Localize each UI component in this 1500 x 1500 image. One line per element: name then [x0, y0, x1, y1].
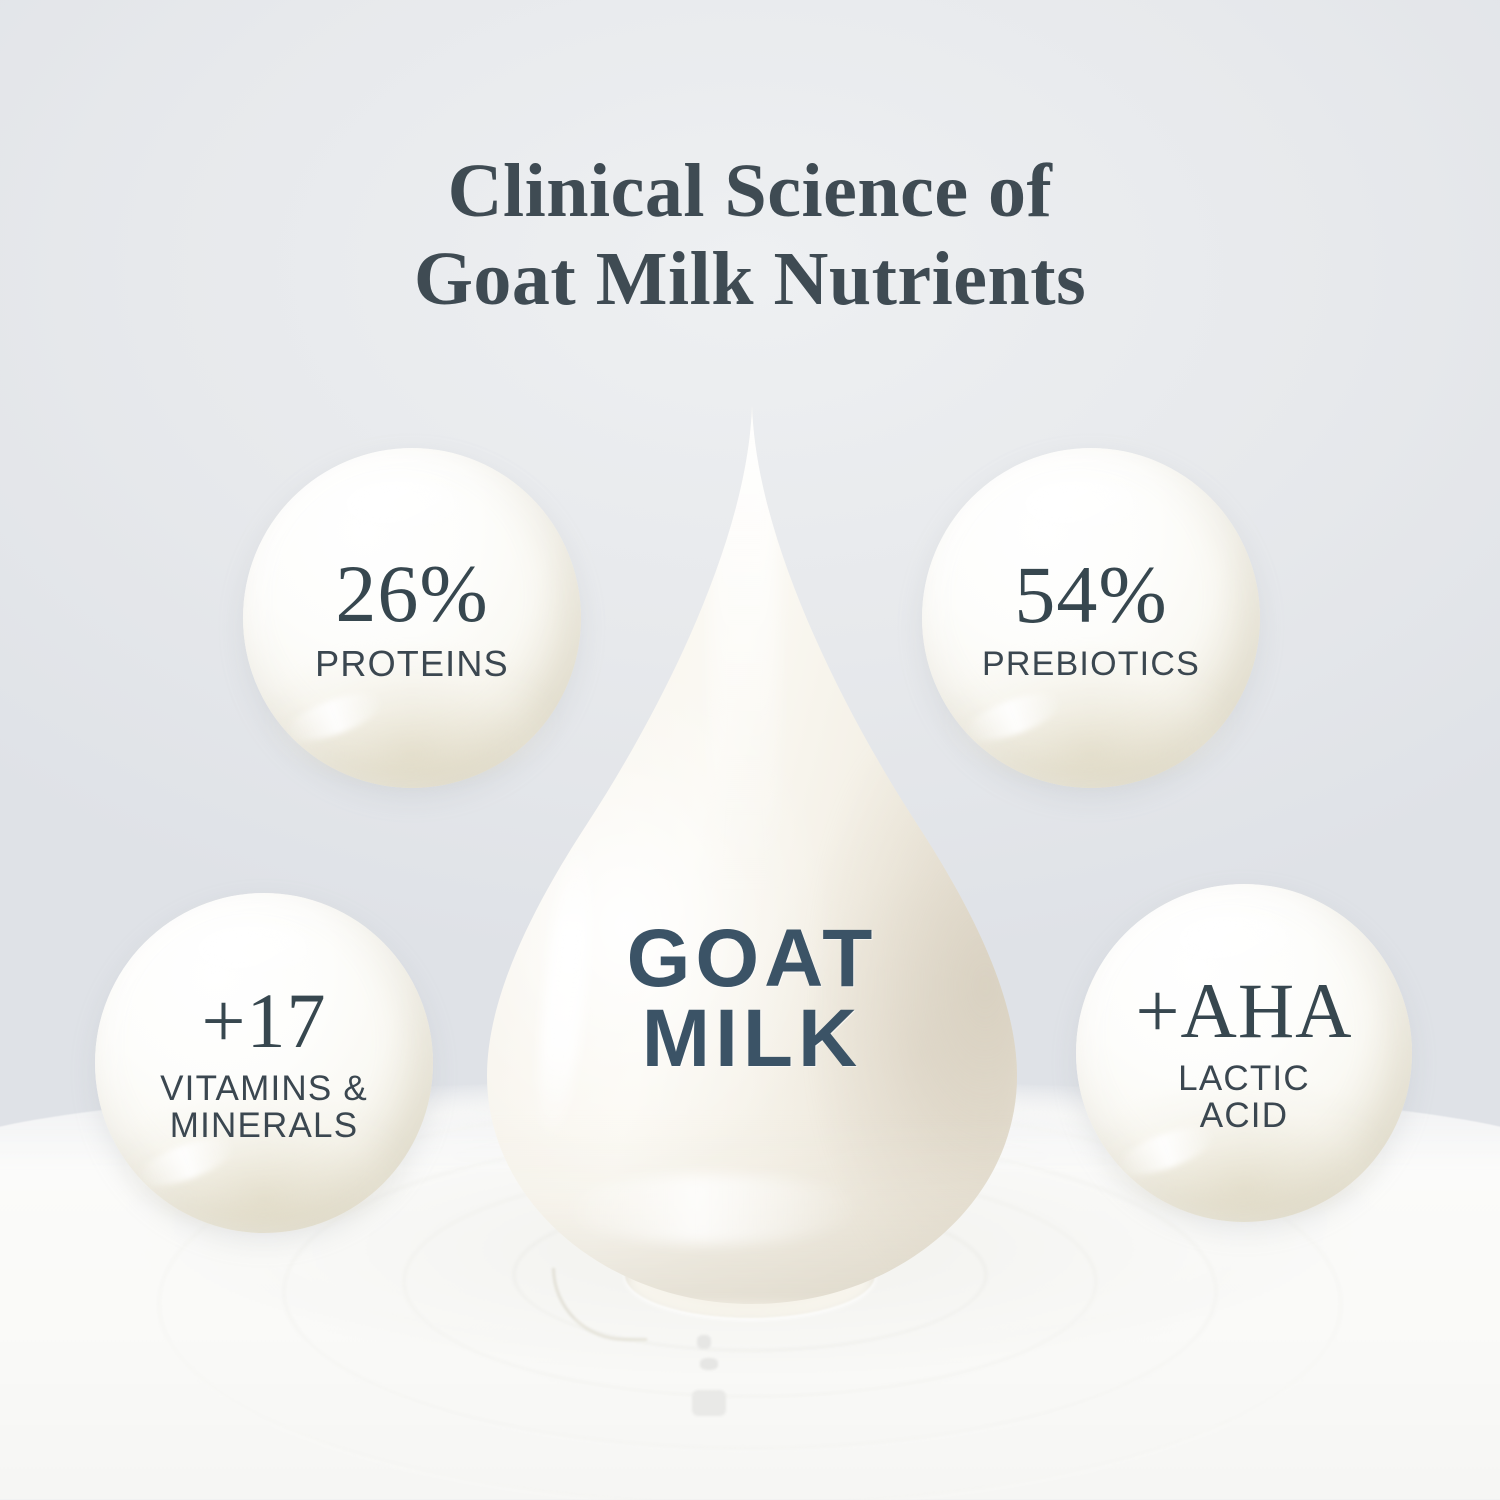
bubble-specular-highlight [1023, 479, 1138, 530]
milk-droplet-icon: GOAT MILK [487, 404, 1017, 1304]
bubble-specular-highlight [344, 479, 459, 530]
bubble-lower-sheen [281, 683, 388, 750]
milk-splash-dot-medium [700, 1358, 718, 1370]
nutrient-value-aha: +AHA [1136, 972, 1353, 1050]
nutrient-label-prebiotics: PREBIOTICS [982, 646, 1200, 682]
page-title: Clinical Science of Goat Milk Nutrients [0, 147, 1500, 323]
milk-splash-dot-small [697, 1335, 711, 1349]
bubble-specular-highlight [1177, 914, 1291, 965]
milk-splash-dot-large [692, 1390, 726, 1416]
nutrient-bubble-aha-lactic-acid[interactable]: +AHA LACTIC ACID [1076, 884, 1412, 1222]
nutrient-value-vitamins: +17 [202, 982, 327, 1060]
bubble-lower-sheen [960, 683, 1067, 750]
infographic-canvas: Clinical Science of Goat Milk Nutrients … [0, 0, 1500, 1500]
droplet-bottom-sheen [561, 1174, 861, 1244]
nutrient-value-prebiotics: 54% [1014, 554, 1167, 636]
nutrient-value-proteins: 26% [335, 553, 488, 635]
nutrient-label-vitamins: VITAMINS & MINERALS [160, 1070, 368, 1144]
nutrient-bubble-vitamins-minerals[interactable]: +17 VITAMINS & MINERALS [95, 893, 433, 1233]
droplet-label: GOAT MILK [487, 919, 1017, 1080]
droplet-spine-highlight [709, 414, 779, 884]
nutrient-label-aha: LACTIC ACID [1178, 1060, 1310, 1134]
nutrient-label-proteins: PROTEINS [315, 645, 509, 683]
nutrient-bubble-prebiotics[interactable]: 54% PREBIOTICS [922, 448, 1260, 788]
nutrient-bubble-proteins[interactable]: 26% PROTEINS [243, 448, 581, 788]
bubble-specular-highlight [196, 924, 311, 975]
